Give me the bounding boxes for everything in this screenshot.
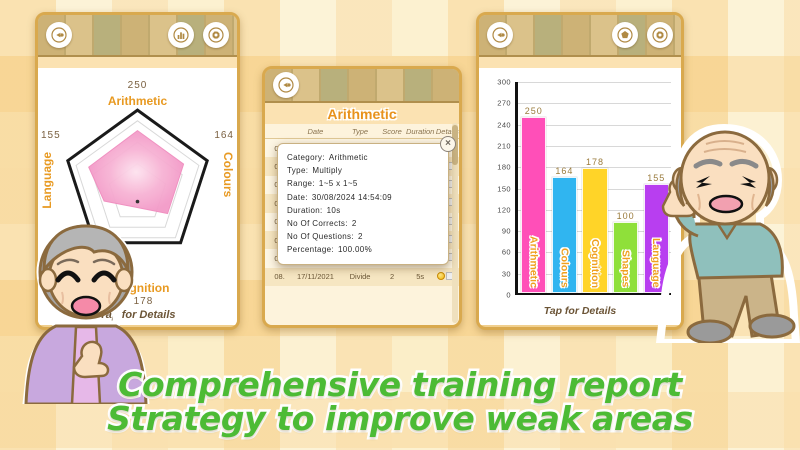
bar-chart-icon[interactable] [168, 22, 194, 48]
dialog-field-label: Date: [287, 193, 308, 202]
back-icon[interactable] [46, 22, 72, 48]
y-axis-tick: 300 [497, 78, 511, 87]
radar-label-language: Language [40, 152, 54, 209]
back-icon[interactable] [273, 72, 299, 98]
dialog-field-value: 2 [352, 219, 357, 228]
bar-value-label: 100 [617, 211, 635, 221]
radar-label-colours: Colours [221, 152, 235, 197]
dialog-field-label: No Of Questions: [287, 232, 354, 241]
bar-arithmetic[interactable]: 250Arithmetic [521, 117, 546, 292]
dialog-field-label: No Of Corrects: [287, 219, 348, 228]
row-type: Divide [341, 268, 380, 286]
bar-value-label: 250 [525, 106, 543, 116]
y-axis-tick: 270 [497, 99, 511, 108]
detail-title: Arithmetic [265, 103, 459, 124]
bar-category-label: Shapes [620, 250, 632, 287]
th-date: Date [290, 124, 340, 139]
th-index [265, 124, 290, 139]
dialog-field: Percentage:100.00% [287, 243, 444, 256]
y-axis-tick: 210 [497, 141, 511, 150]
dialog-field: Category:Arithmetic [287, 151, 444, 164]
th-type: Type [341, 124, 380, 139]
radar-value-arithmetic: 250 [128, 80, 148, 91]
session-detail-dialog: × Category:ArithmeticType:MultiplyRange:… [277, 143, 449, 265]
dialog-field-label: Percentage: [287, 245, 334, 254]
dialog-field-value: 2 [358, 232, 363, 241]
bar-category-label: Colours [558, 248, 570, 288]
dialog-field: Date:30/08/2024 14:54:09 [287, 191, 444, 204]
detail-toolbar [265, 69, 459, 103]
dialog-field-value: Multiply [312, 166, 342, 175]
radar-screen-band [38, 57, 237, 68]
y-axis-tick: 150 [497, 184, 511, 193]
dialog-field-label: Duration: [287, 206, 323, 215]
y-axis-tick: 60 [502, 248, 511, 257]
th-duration: Duration [405, 124, 436, 139]
bar-category-label: Arithmetic [528, 236, 540, 288]
bar-column[interactable]: 164Colours [552, 82, 577, 293]
close-icon[interactable]: × [440, 136, 456, 152]
dialog-field-value: 100.00% [338, 245, 372, 254]
bar-value-label: 164 [555, 166, 573, 176]
radar-value-colours: 164 [214, 130, 234, 141]
radar-toolbar [38, 15, 237, 57]
gear-icon[interactable] [203, 22, 229, 48]
table-header-row: Date Type Score Duration Details [265, 124, 459, 139]
bar-colours[interactable]: 164Colours [552, 177, 577, 292]
dialog-field: Range:1~5 x 1~5 [287, 177, 444, 190]
y-axis-tick: 180 [497, 163, 511, 172]
y-axis-tick: 90 [502, 227, 511, 236]
bar-shapes[interactable]: 100Shapes [613, 222, 638, 292]
radar-value-language: 155 [41, 130, 61, 141]
table-row[interactable]: 08.17/11/2021Divide25s [265, 268, 459, 286]
detail-panel: Arithmetic Date Type Score Duration Deta… [262, 66, 462, 328]
bar-chart-y-axis [515, 82, 518, 295]
bar-column[interactable]: 100Shapes [613, 82, 638, 293]
dialog-field: No Of Corrects:2 [287, 217, 444, 230]
dialog-field: No Of Questions:2 [287, 230, 444, 243]
row-score: 2 [379, 268, 404, 286]
bar-cognition[interactable]: 178Cognition [582, 168, 607, 293]
dialog-field-value: 10s [327, 206, 341, 215]
y-axis-tick: 0 [506, 291, 511, 300]
row-date: 17/11/2021 [290, 268, 340, 286]
bar-category-label: Cognition [589, 239, 601, 288]
gear-icon[interactable] [647, 22, 673, 48]
bar-column[interactable]: 178Cognition [582, 82, 607, 293]
bar-column[interactable]: 250Arithmetic [521, 82, 546, 293]
row-duration: 5s [405, 268, 436, 286]
radar-label-arithmetic: Arithmetic [108, 94, 167, 108]
dialog-field-label: Range: [287, 179, 315, 188]
bar-screen-band [479, 57, 681, 68]
dialog-field: Duration:10s [287, 204, 444, 217]
dialog-field-value: 30/08/2024 14:54:09 [312, 193, 392, 202]
y-axis-tick: 30 [502, 269, 511, 278]
detail-screen[interactable]: Arithmetic Date Type Score Duration Deta… [265, 103, 459, 325]
th-score: Score [379, 124, 404, 139]
dialog-field: Type:Multiply [287, 164, 444, 177]
y-axis-tick: 120 [497, 205, 511, 214]
dialog-field-value: 1~5 x 1~5 [319, 179, 358, 188]
dialog-field-label: Type: [287, 166, 308, 175]
grandpa-character [640, 118, 800, 343]
granny-character [20, 214, 152, 404]
table-scrollbar[interactable] [452, 123, 458, 323]
y-axis-tick: 240 [497, 120, 511, 129]
bar-value-label: 178 [586, 157, 604, 167]
bar-toolbar [479, 15, 681, 57]
row-index: 08. [265, 268, 290, 286]
back-icon[interactable] [487, 22, 513, 48]
dialog-field-value: Arithmetic [329, 153, 368, 162]
dialog-field-label: Category: [287, 153, 325, 162]
pentagon-icon[interactable] [612, 22, 638, 48]
